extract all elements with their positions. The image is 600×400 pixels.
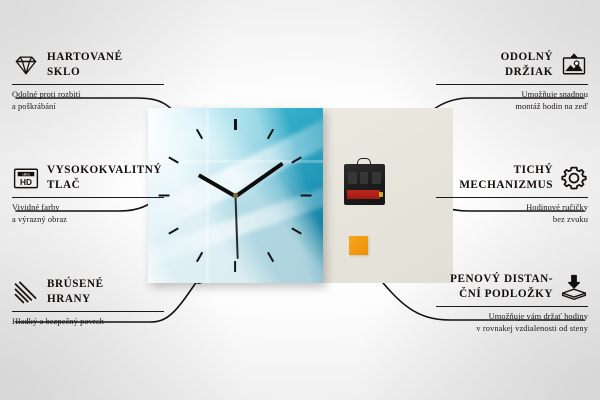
feature-description: Odolné proti rozbitía poškrábání bbox=[12, 89, 164, 113]
feature-header: HARTOVANÉSKLO bbox=[12, 50, 164, 80]
feature-header: TICHÝMECHANIZMUS bbox=[436, 163, 588, 193]
clock-tick bbox=[292, 156, 303, 163]
feature-divider bbox=[12, 84, 164, 85]
feature-divider bbox=[12, 197, 164, 198]
svg-text:ultra: ultra bbox=[22, 173, 30, 177]
clock-tick bbox=[234, 261, 236, 272]
feature-title: TICHÝMECHANIZMUS bbox=[436, 163, 553, 193]
feature-header: ODOLNÝDRŽIAK bbox=[436, 50, 588, 80]
feature-description: Vividné farbya výrazný obraz bbox=[12, 202, 164, 226]
clock-tick bbox=[196, 252, 203, 263]
clock-center-cap bbox=[233, 193, 238, 198]
feature-divider bbox=[436, 197, 588, 198]
clock-tick bbox=[301, 194, 312, 196]
feature-title: HARTOVANÉSKLO bbox=[47, 50, 164, 80]
clock-tick bbox=[196, 129, 203, 140]
mechanism-vents bbox=[348, 172, 381, 184]
gear-icon bbox=[560, 164, 588, 192]
clock-tick bbox=[234, 119, 236, 130]
feature-divider bbox=[436, 306, 588, 307]
feature-header: BRÚSENÉHRANY bbox=[12, 277, 164, 307]
ground-edges-icon bbox=[12, 278, 40, 306]
feature-description: Umožňuje snadnoumontáž hodin na zeď bbox=[436, 89, 588, 113]
clock-tick bbox=[169, 156, 180, 163]
feature-durable-holder: ODOLNÝDRŽIAK Umožňuje snadnoumontáž hodi… bbox=[436, 50, 588, 113]
feature-divider bbox=[436, 84, 588, 85]
diamond-icon bbox=[12, 51, 40, 79]
feature-tempered-glass: HARTOVANÉSKLO Odolné proti rozbitía pošk… bbox=[12, 50, 164, 113]
mechanism-battery bbox=[347, 190, 380, 199]
feature-high-quality-print: ultra HD VYSOKOKVALITNÝTLAČ Vividné farb… bbox=[12, 163, 164, 226]
feature-title: ODOLNÝDRŽIAK bbox=[436, 50, 553, 80]
feature-ground-edges: BRÚSENÉHRANY Hladký a bezpečný povrch bbox=[12, 277, 164, 328]
foam-pad-icon bbox=[560, 273, 588, 301]
mechanism-body bbox=[344, 164, 385, 205]
feature-silent-mechanism: TICHÝMECHANIZMUS Hodinové ručičkybez zvu… bbox=[436, 163, 588, 226]
feature-description: Hladký a bezpečný povrch bbox=[12, 316, 164, 328]
svg-text:HD: HD bbox=[20, 177, 32, 187]
feature-title: BRÚSENÉHRANY bbox=[47, 277, 164, 307]
clock-tick bbox=[169, 227, 180, 234]
clock-tick bbox=[267, 252, 274, 263]
foam-spacer-pad bbox=[349, 236, 368, 255]
infographic-stage: HARTOVANÉSKLO Odolné proti rozbitía pošk… bbox=[0, 0, 600, 400]
clock-mechanism bbox=[344, 164, 385, 205]
feature-description: Umožňuje vám držať hodinyv rovnakej vzdi… bbox=[436, 311, 588, 335]
picture-frame-icon bbox=[560, 51, 588, 79]
clock-tick bbox=[267, 129, 274, 140]
feature-foam-spacers: PENOVÝ DISTAN-ČNÍ PODLOŽKY Umožňuje vám … bbox=[436, 272, 588, 335]
feature-title: PENOVÝ DISTAN-ČNÍ PODLOŽKY bbox=[436, 272, 553, 302]
clock-tick bbox=[292, 227, 303, 234]
product-image bbox=[148, 108, 453, 283]
ultra-hd-icon: ultra HD bbox=[12, 164, 40, 192]
glass-clock-face bbox=[148, 108, 323, 283]
feature-header: PENOVÝ DISTAN-ČNÍ PODLOŽKY bbox=[436, 272, 588, 302]
feature-title: VYSOKOKVALITNÝTLAČ bbox=[47, 163, 164, 193]
feature-description: Hodinové ručičkybez zvuku bbox=[436, 202, 588, 226]
feature-divider bbox=[12, 311, 164, 312]
feature-header: ultra HD VYSOKOKVALITNÝTLAČ bbox=[12, 163, 164, 193]
